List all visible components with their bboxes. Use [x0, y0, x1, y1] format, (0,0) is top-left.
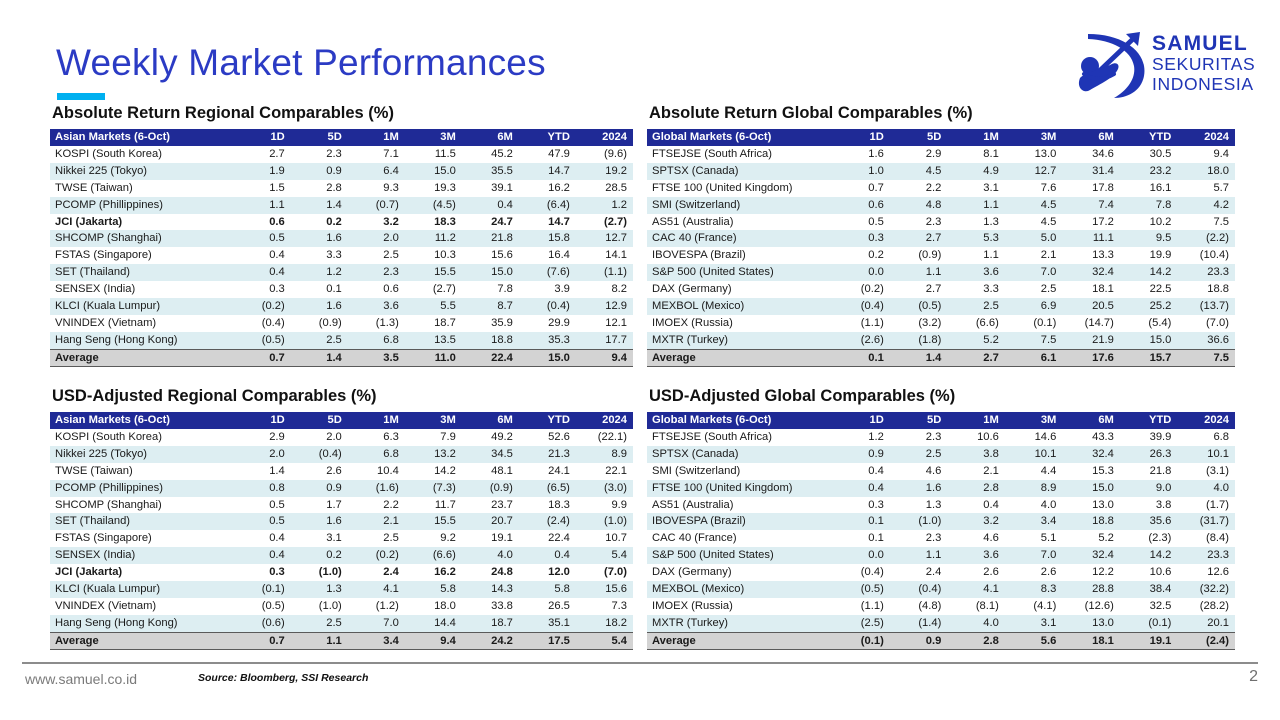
logo-wordmark: SAMUEL SEKURITAS INDONESIA [1152, 33, 1255, 93]
cell-1d: (0.4) [832, 298, 890, 315]
cell-2024: (7.0) [1177, 315, 1235, 332]
column-header-2024[interactable]: 2024 [1177, 129, 1235, 146]
cell-6m: 13.3 [1062, 247, 1120, 264]
cell-1d: 0.2 [832, 247, 890, 264]
cell-5d: 1.2 [291, 264, 348, 281]
cell-ytd: 3.9 [519, 281, 576, 298]
column-header-5d[interactable]: 5D [890, 412, 948, 429]
cell-ytd: 25.2 [1120, 298, 1178, 315]
cell-6m: 18.8 [462, 332, 519, 349]
table-row-average: Average(0.1)0.92.85.618.119.1(2.4) [647, 632, 1235, 650]
cell-1m: 10.4 [348, 463, 405, 480]
cell-3m: 2.6 [1005, 564, 1063, 581]
table-row[interactable]: VNINDEX (Vietnam)(0.5)(1.0)(1.2)18.033.8… [50, 598, 633, 615]
row-label: Average [50, 632, 234, 650]
table-row[interactable]: VNINDEX (Vietnam)(0.4)(0.9)(1.3)18.735.9… [50, 315, 633, 332]
row-label: IBOVESPA (Brazil) [647, 247, 832, 264]
row-label: KLCI (Kuala Lumpur) [50, 298, 234, 315]
column-header-2024[interactable]: 2024 [576, 412, 633, 429]
cell-ytd: 23.2 [1120, 163, 1178, 180]
cell-1m: 4.6 [947, 530, 1005, 547]
column-header-ytd[interactable]: YTD [519, 129, 576, 146]
cell-1d: 0.1 [832, 530, 890, 547]
row-label: Hang Seng (Hong Kong) [50, 615, 234, 632]
cell-average-1m: 2.7 [947, 349, 1005, 367]
cell-6m: 24.7 [462, 214, 519, 231]
column-header-5d[interactable]: 5D [291, 129, 348, 146]
cell-1m: 2.6 [947, 564, 1005, 581]
cell-6m: 43.3 [1062, 429, 1120, 446]
cell-6m: 21.9 [1062, 332, 1120, 349]
cell-ytd: 14.7 [519, 163, 576, 180]
cell-1m: 9.3 [348, 180, 405, 197]
cell-5d: 0.1 [291, 281, 348, 298]
table-row[interactable]: DAX (Germany)(0.4)2.42.62.612.210.612.6 [647, 564, 1235, 581]
row-label: PCOMP (Phillippines) [50, 197, 234, 214]
table-row[interactable]: TWSE (Taiwan)1.42.610.414.248.124.122.1 [50, 463, 633, 480]
table-row[interactable]: IBOVESPA (Brazil)0.2(0.9)1.12.113.319.9(… [647, 247, 1235, 264]
cell-2024: 6.8 [1177, 429, 1235, 446]
cell-1d: (0.4) [832, 564, 890, 581]
cell-6m: 24.8 [462, 564, 519, 581]
cell-ytd: 14.7 [519, 214, 576, 231]
cell-6m: 15.3 [1062, 463, 1120, 480]
cell-5d: 4.8 [890, 197, 948, 214]
table-row[interactable]: Hang Seng (Hong Kong)(0.6)2.57.014.418.7… [50, 615, 633, 632]
cell-ytd: 7.8 [1120, 197, 1178, 214]
table-row[interactable]: Hang Seng (Hong Kong)(0.5)2.56.813.518.8… [50, 332, 633, 349]
row-label: S&P 500 (United States) [647, 264, 832, 281]
cell-3m: 11.2 [405, 230, 462, 247]
cell-2024: (3.0) [576, 480, 633, 497]
cell-ytd: 14.2 [1120, 547, 1178, 564]
cell-average-ytd: 19.1 [1120, 632, 1178, 650]
cell-ytd: (6.5) [519, 480, 576, 497]
column-header-1m[interactable]: 1M [947, 412, 1005, 429]
cell-1m: 3.6 [348, 298, 405, 315]
row-label: IBOVESPA (Brazil) [647, 513, 832, 530]
cell-2024: (22.1) [576, 429, 633, 446]
cell-2024: 12.6 [1177, 564, 1235, 581]
column-header-name[interactable]: Asian Markets (6-Oct) [50, 129, 234, 146]
cell-ytd: 16.1 [1120, 180, 1178, 197]
table-row[interactable]: Nikkei 225 (Tokyo)1.90.96.415.035.514.71… [50, 163, 633, 180]
table-row-average: Average0.11.42.76.117.615.77.5 [647, 349, 1235, 367]
cell-ytd: 26.3 [1120, 446, 1178, 463]
cell-5d: 0.9 [291, 480, 348, 497]
cell-1d: 0.5 [234, 497, 291, 514]
row-label: AS51 (Australia) [647, 497, 832, 514]
source-note: Source: Bloomberg, SSI Research [198, 672, 368, 684]
cell-5d: (4.8) [890, 598, 948, 615]
table-row[interactable]: SMI (Switzerland)0.64.81.14.57.47.84.2 [647, 197, 1235, 214]
table-body: KOSPI (South Korea)2.72.37.111.545.247.9… [50, 146, 633, 367]
cell-1m: 2.8 [947, 480, 1005, 497]
cell-3m: 12.7 [1005, 163, 1063, 180]
table-row[interactable]: SENSEX (India)0.40.2(0.2)(6.6)4.00.45.4 [50, 547, 633, 564]
cell-5d: (0.4) [291, 446, 348, 463]
page-title: Weekly Market Performances [56, 42, 546, 84]
table-row[interactable]: KLCI (Kuala Lumpur)(0.1)1.34.15.814.35.8… [50, 581, 633, 598]
column-header-2024[interactable]: 2024 [576, 129, 633, 146]
cell-3m: (7.3) [405, 480, 462, 497]
row-label: TWSE (Taiwan) [50, 463, 234, 480]
cell-2024: 10.7 [576, 530, 633, 547]
cell-1m: 2.3 [348, 264, 405, 281]
cell-6m: 32.4 [1062, 264, 1120, 281]
cell-ytd: 9.5 [1120, 230, 1178, 247]
table-row[interactable]: SET (Thailand)0.51.62.115.520.7(2.4)(1.0… [50, 513, 633, 530]
table-row[interactable]: MEXBOL (Mexico)(0.5)(0.4)4.18.328.838.4(… [647, 581, 1235, 598]
table-row[interactable]: PCOMP (Phillippines)1.11.4(0.7)(4.5)0.4(… [50, 197, 633, 214]
cell-average-5d: 0.9 [890, 632, 948, 650]
cell-3m: 2.1 [1005, 247, 1063, 264]
column-header-6m[interactable]: 6M [1062, 129, 1120, 146]
column-header-name[interactable]: Global Markets (6-Oct) [647, 412, 832, 429]
panel-title: Absolute Return Global Comparables (%) [649, 104, 1235, 123]
cell-average-ytd: 15.0 [519, 349, 576, 367]
cell-3m: 4.4 [1005, 463, 1063, 480]
table-row[interactable]: TWSE (Taiwan)1.52.89.319.339.116.228.5 [50, 180, 633, 197]
cell-ytd: 3.8 [1120, 497, 1178, 514]
cell-6m: 18.1 [1062, 281, 1120, 298]
cell-ytd: 16.2 [519, 180, 576, 197]
cell-1d: 0.6 [234, 214, 291, 231]
cell-1d: (0.2) [832, 281, 890, 298]
cell-1d: 0.4 [234, 264, 291, 281]
cell-average-3m: 11.0 [405, 349, 462, 367]
cell-1m: 2.1 [947, 463, 1005, 480]
column-header-ytd[interactable]: YTD [1120, 412, 1178, 429]
row-label: VNINDEX (Vietnam) [50, 315, 234, 332]
table-row[interactable]: SHCOMP (Shanghai)0.51.62.011.221.815.812… [50, 230, 633, 247]
cell-ytd: (6.4) [519, 197, 576, 214]
column-header-3m[interactable]: 3M [405, 129, 462, 146]
cell-5d: 2.7 [890, 230, 948, 247]
table-row[interactable]: SENSEX (India)0.30.10.6(2.7)7.83.98.2 [50, 281, 633, 298]
row-label: Hang Seng (Hong Kong) [50, 332, 234, 349]
cell-2024: (7.0) [576, 564, 633, 581]
table-row[interactable]: SET (Thailand)0.41.22.315.515.0(7.6)(1.1… [50, 264, 633, 281]
cell-1m: 6.3 [348, 429, 405, 446]
column-header-name[interactable]: Asian Markets (6-Oct) [50, 412, 234, 429]
cell-3m: (0.1) [1005, 315, 1063, 332]
cell-3m: 7.5 [1005, 332, 1063, 349]
table-row[interactable]: JCI (Jakarta)0.60.23.218.324.714.7(2.7) [50, 214, 633, 231]
cell-average-5d: 1.1 [291, 632, 348, 650]
cell-average-1m: 2.8 [947, 632, 1005, 650]
cell-3m: 8.9 [1005, 480, 1063, 497]
table-row[interactable]: KOSPI (South Korea)2.92.06.37.949.252.6(… [50, 429, 633, 446]
logo-line-2: SEKURITAS [1152, 56, 1255, 74]
column-header-ytd[interactable]: YTD [1120, 129, 1178, 146]
row-label: PCOMP (Phillippines) [50, 480, 234, 497]
cell-1m: 5.3 [947, 230, 1005, 247]
cell-5d: (0.4) [890, 581, 948, 598]
cell-6m: 17.8 [1062, 180, 1120, 197]
cell-5d: 2.2 [890, 180, 948, 197]
column-header-1d[interactable]: 1D [832, 412, 890, 429]
row-label: Average [50, 349, 234, 367]
table-row[interactable]: S&P 500 (United States)0.01.13.67.032.41… [647, 264, 1235, 281]
row-label: KOSPI (South Korea) [50, 146, 234, 163]
row-label: KLCI (Kuala Lumpur) [50, 581, 234, 598]
cell-ytd: 52.6 [519, 429, 576, 446]
cell-2024: 9.4 [1177, 146, 1235, 163]
cell-1d: 0.1 [832, 513, 890, 530]
cell-5d: 2.3 [890, 214, 948, 231]
cell-1d: 1.6 [832, 146, 890, 163]
table-row[interactable]: KOSPI (South Korea)2.72.37.111.545.247.9… [50, 146, 633, 163]
row-label: CAC 40 (France) [647, 530, 832, 547]
cell-1m: 4.1 [947, 581, 1005, 598]
table-row[interactable]: CAC 40 (France)0.12.34.65.15.2(2.3)(8.4) [647, 530, 1235, 547]
cell-5d: 2.5 [291, 332, 348, 349]
cell-5d: 1.6 [890, 480, 948, 497]
cell-2024: 28.5 [576, 180, 633, 197]
row-label: IMOEX (Russia) [647, 315, 832, 332]
table-row[interactable]: IBOVESPA (Brazil)0.1(1.0)3.23.418.835.6(… [647, 513, 1235, 530]
cell-6m: 35.5 [462, 163, 519, 180]
row-label: MEXBOL (Mexico) [647, 298, 832, 315]
cell-1d: 0.5 [832, 214, 890, 231]
column-header-name[interactable]: Global Markets (6-Oct) [647, 129, 832, 146]
table-absolute-return-global: Global Markets (6-Oct)1D5D1M3M6MYTD2024 … [647, 129, 1235, 367]
cell-ytd: 32.5 [1120, 598, 1178, 615]
cell-ytd: 15.8 [519, 230, 576, 247]
table-row[interactable]: KLCI (Kuala Lumpur)(0.2)1.63.65.58.7(0.4… [50, 298, 633, 315]
cell-average-1d: 0.7 [234, 349, 291, 367]
cell-average-2024: 7.5 [1177, 349, 1235, 367]
table-usd-adjusted-regional: Asian Markets (6-Oct)1D5D1M3M6MYTD2024 K… [50, 412, 633, 650]
column-header-6m[interactable]: 6M [1062, 412, 1120, 429]
cell-1m: 2.4 [348, 564, 405, 581]
column-header-5d[interactable]: 5D [291, 412, 348, 429]
column-header-1m[interactable]: 1M [348, 412, 405, 429]
cell-3m: 18.0 [405, 598, 462, 615]
column-header-ytd[interactable]: YTD [519, 412, 576, 429]
cell-1m: (0.2) [348, 547, 405, 564]
cell-6m: 32.4 [1062, 446, 1120, 463]
cell-1d: 1.4 [234, 463, 291, 480]
cell-3m: 13.2 [405, 446, 462, 463]
table-row[interactable]: FTSEJSE (South Africa)1.22.310.614.643.3… [647, 429, 1235, 446]
cell-3m: 7.6 [1005, 180, 1063, 197]
table-row[interactable]: FTSE 100 (United Kingdom)0.41.62.88.915.… [647, 480, 1235, 497]
cell-2024: (32.2) [1177, 581, 1235, 598]
row-label: FTSEJSE (South Africa) [647, 146, 832, 163]
cell-3m: 4.5 [1005, 197, 1063, 214]
cell-3m: 11.7 [405, 497, 462, 514]
table-row[interactable]: FTSE 100 (United Kingdom)0.72.23.17.617.… [647, 180, 1235, 197]
table-row[interactable]: MXTR (Turkey)(2.6)(1.8)5.27.521.915.036.… [647, 332, 1235, 349]
cell-1m: 7.1 [348, 146, 405, 163]
cell-average-6m: 17.6 [1062, 349, 1120, 367]
cell-1m: (6.6) [947, 315, 1005, 332]
cell-5d: 1.4 [291, 197, 348, 214]
column-header-1d[interactable]: 1D [832, 129, 890, 146]
table-row[interactable]: DAX (Germany)(0.2)2.73.32.518.122.518.8 [647, 281, 1235, 298]
cell-6m: 48.1 [462, 463, 519, 480]
table-row[interactable]: FSTAS (Singapore)0.43.12.59.219.122.410.… [50, 530, 633, 547]
table-row[interactable]: S&P 500 (United States)0.01.13.67.032.41… [647, 547, 1235, 564]
cell-1m: (0.7) [348, 197, 405, 214]
cell-2024: (13.7) [1177, 298, 1235, 315]
cell-2024: 23.3 [1177, 264, 1235, 281]
cell-3m: 3.1 [1005, 615, 1063, 632]
row-label: FTSEJSE (South Africa) [647, 429, 832, 446]
title-accent-bar [57, 93, 105, 100]
table-row[interactable]: AS51 (Australia)0.31.30.44.013.03.8(1.7) [647, 497, 1235, 514]
cell-5d: 0.2 [291, 547, 348, 564]
cell-6m: 33.8 [462, 598, 519, 615]
cell-3m: (4.1) [1005, 598, 1063, 615]
column-header-6m[interactable]: 6M [462, 412, 519, 429]
cell-6m: 0.4 [462, 197, 519, 214]
cell-3m: 14.4 [405, 615, 462, 632]
column-header-1m[interactable]: 1M [947, 129, 1005, 146]
table-row[interactable]: SPTSX (Canada)1.04.54.912.731.423.218.0 [647, 163, 1235, 180]
cell-1m: 2.5 [947, 298, 1005, 315]
table-row[interactable]: Nikkei 225 (Tokyo)2.0(0.4)6.813.234.521.… [50, 446, 633, 463]
cell-2024: 9.9 [576, 497, 633, 514]
cell-1m: 10.6 [947, 429, 1005, 446]
column-header-2024[interactable]: 2024 [1177, 412, 1235, 429]
cell-6m: 15.0 [462, 264, 519, 281]
cell-ytd: 19.9 [1120, 247, 1178, 264]
site-url[interactable]: www.samuel.co.id [25, 671, 137, 687]
table-body: FTSEJSE (South Africa)1.22.310.614.643.3… [647, 429, 1235, 650]
cell-5d: 1.3 [291, 581, 348, 598]
column-header-1d[interactable]: 1D [234, 412, 291, 429]
cell-3m: 5.8 [405, 581, 462, 598]
cell-2024: 14.1 [576, 247, 633, 264]
cell-1m: (8.1) [947, 598, 1005, 615]
cell-average-2024: 5.4 [576, 632, 633, 650]
cell-1m: 1.3 [947, 214, 1005, 231]
column-header-6m[interactable]: 6M [462, 129, 519, 146]
cell-ytd: (2.3) [1120, 530, 1178, 547]
column-header-1d[interactable]: 1D [234, 129, 291, 146]
cell-3m: 15.0 [405, 163, 462, 180]
cell-3m: 5.0 [1005, 230, 1063, 247]
table-row[interactable]: FSTAS (Singapore)0.43.32.510.315.616.414… [50, 247, 633, 264]
cell-2024: 4.0 [1177, 480, 1235, 497]
cell-3m: 6.9 [1005, 298, 1063, 315]
column-header-3m[interactable]: 3M [1005, 129, 1063, 146]
table-header-row: Global Markets (6-Oct)1D5D1M3M6MYTD2024 [647, 129, 1235, 146]
cell-2024: 18.2 [576, 615, 633, 632]
table-row[interactable]: SMI (Switzerland)0.44.62.14.415.321.8(3.… [647, 463, 1235, 480]
cell-1d: (0.5) [234, 598, 291, 615]
cell-5d: (3.2) [890, 315, 948, 332]
cell-2024: (1.0) [576, 513, 633, 530]
cell-2024: (3.1) [1177, 463, 1235, 480]
cell-2024: (8.4) [1177, 530, 1235, 547]
cell-ytd: (5.4) [1120, 315, 1178, 332]
table-row[interactable]: SHCOMP (Shanghai)0.51.72.211.723.718.39.… [50, 497, 633, 514]
cell-5d: (1.0) [291, 564, 348, 581]
cell-6m: 19.1 [462, 530, 519, 547]
table-row[interactable]: JCI (Jakarta)0.3(1.0)2.416.224.812.0(7.0… [50, 564, 633, 581]
table-row[interactable]: AS51 (Australia)0.52.31.34.517.210.27.5 [647, 214, 1235, 231]
cell-1d: (0.4) [234, 315, 291, 332]
cell-3m: 10.1 [1005, 446, 1063, 463]
cell-1d: 0.3 [234, 281, 291, 298]
column-header-3m[interactable]: 3M [405, 412, 462, 429]
column-header-3m[interactable]: 3M [1005, 412, 1063, 429]
cell-1d: 1.9 [234, 163, 291, 180]
table-row[interactable]: FTSEJSE (South Africa)1.62.98.113.034.63… [647, 146, 1235, 163]
cell-5d: (0.9) [890, 247, 948, 264]
row-label: JCI (Jakarta) [50, 214, 234, 231]
table-row[interactable]: IMOEX (Russia)(1.1)(4.8)(8.1)(4.1)(12.6)… [647, 598, 1235, 615]
cell-average-6m: 18.1 [1062, 632, 1120, 650]
cell-3m: 13.0 [1005, 146, 1063, 163]
row-label: SET (Thailand) [50, 513, 234, 530]
column-header-5d[interactable]: 5D [890, 129, 948, 146]
cell-5d: 2.3 [291, 146, 348, 163]
cell-average-5d: 1.4 [890, 349, 948, 367]
cell-2024: (31.7) [1177, 513, 1235, 530]
cell-3m: 13.5 [405, 332, 462, 349]
panel-absolute-return-global: Absolute Return Global Comparables (%) G… [647, 104, 1235, 367]
cell-5d: (1.0) [291, 598, 348, 615]
table-row[interactable]: PCOMP (Phillippines)0.80.9(1.6)(7.3)(0.9… [50, 480, 633, 497]
cell-2024: 12.7 [576, 230, 633, 247]
column-header-1m[interactable]: 1M [348, 129, 405, 146]
table-row[interactable]: SPTSX (Canada)0.92.53.810.132.426.310.1 [647, 446, 1235, 463]
row-label: SENSEX (India) [50, 281, 234, 298]
cell-1m: 3.3 [947, 281, 1005, 298]
cell-1m: 4.0 [947, 615, 1005, 632]
table-row[interactable]: IMOEX (Russia)(1.1)(3.2)(6.6)(0.1)(14.7)… [647, 315, 1235, 332]
cell-3m: 15.5 [405, 264, 462, 281]
table-row[interactable]: MEXBOL (Mexico)(0.4)(0.5)2.56.920.525.2(… [647, 298, 1235, 315]
cell-6m: (0.9) [462, 480, 519, 497]
logo-line-1: SAMUEL [1152, 33, 1255, 54]
cell-1d: 0.4 [234, 547, 291, 564]
cell-ytd: 24.1 [519, 463, 576, 480]
cell-5d: 2.3 [890, 530, 948, 547]
panel-title: USD-Adjusted Regional Comparables (%) [52, 387, 633, 406]
cell-1d: (0.5) [832, 581, 890, 598]
table-row[interactable]: MXTR (Turkey)(2.5)(1.4)4.03.113.0(0.1)20… [647, 615, 1235, 632]
table-row[interactable]: CAC 40 (France)0.32.75.35.011.19.5(2.2) [647, 230, 1235, 247]
cell-ytd: 21.8 [1120, 463, 1178, 480]
cell-3m: 7.0 [1005, 547, 1063, 564]
cell-1d: (1.1) [832, 315, 890, 332]
cell-6m: 7.8 [462, 281, 519, 298]
cell-1d: (2.5) [832, 615, 890, 632]
cell-6m: 7.4 [1062, 197, 1120, 214]
cell-ytd: 12.0 [519, 564, 576, 581]
cell-2024: (28.2) [1177, 598, 1235, 615]
row-label: Average [647, 349, 832, 367]
row-label: SHCOMP (Shanghai) [50, 230, 234, 247]
cell-6m: 49.2 [462, 429, 519, 446]
panel-title: Absolute Return Regional Comparables (%) [52, 104, 633, 123]
row-label: S&P 500 (United States) [647, 547, 832, 564]
cell-1m: 2.1 [348, 513, 405, 530]
cell-1d: 1.1 [234, 197, 291, 214]
cell-1d: (0.6) [234, 615, 291, 632]
cell-6m: (12.6) [1062, 598, 1120, 615]
cell-ytd: (7.6) [519, 264, 576, 281]
row-label: CAC 40 (France) [647, 230, 832, 247]
cell-1m: (1.6) [348, 480, 405, 497]
cell-2024: 10.1 [1177, 446, 1235, 463]
